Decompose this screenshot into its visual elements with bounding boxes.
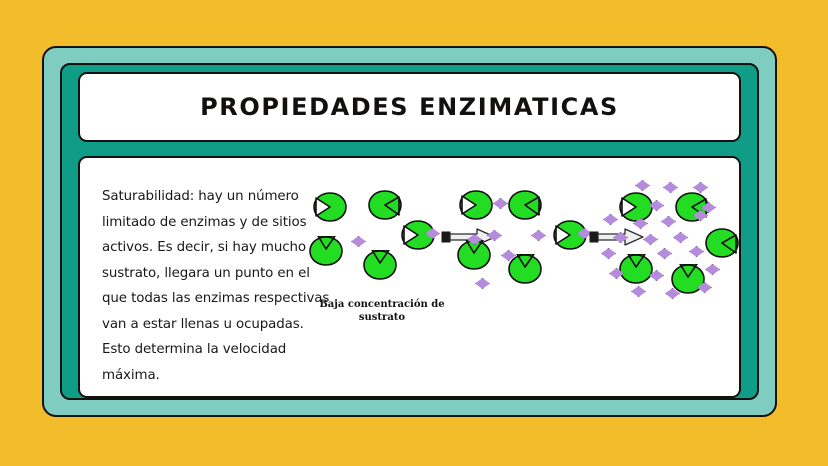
substrate-icon — [657, 248, 672, 259]
substrate-icon — [661, 216, 676, 227]
cluster-low-concentration: Baja concentración de sustrato — [305, 178, 445, 308]
enzyme-icon — [508, 190, 542, 220]
enzyme-icon — [619, 192, 653, 222]
enzyme-icon — [459, 190, 493, 220]
page-title: PROPIEDADES ENZIMATICAS — [200, 93, 619, 121]
substrate-icon — [603, 214, 618, 225]
enzyme-icon — [309, 236, 343, 266]
substrate-icon — [351, 236, 366, 247]
enzyme-icon — [619, 254, 653, 284]
substrate-icon — [613, 232, 628, 243]
caption-low-concentration: Baja concentración de sustrato — [307, 298, 457, 324]
slide-canvas: PROPIEDADES ENZIMATICAS Saturabilidad: h… — [0, 0, 828, 466]
substrate-icon — [493, 198, 508, 209]
substrate-icon — [689, 246, 704, 257]
enzyme-icon — [508, 254, 542, 284]
cluster-high-concentration: Alta concentración de sustrato — [601, 178, 741, 308]
cluster-medium-concentration — [453, 178, 593, 308]
enzyme-icon — [368, 190, 402, 220]
substrate-icon — [643, 234, 658, 245]
body-card: Saturabilidad: hay un número limitado de… — [78, 156, 741, 398]
substrate-icon — [635, 180, 650, 191]
substrate-icon — [631, 286, 646, 297]
enzyme-saturation-diagram: Baja concentración de sustrato — [305, 178, 735, 388]
enzyme-icon — [705, 228, 739, 258]
substrate-icon — [673, 232, 688, 243]
substrate-icon — [705, 264, 720, 275]
substrate-icon — [531, 230, 546, 241]
enzyme-icon — [313, 192, 347, 222]
title-card: PROPIEDADES ENZIMATICAS — [78, 72, 741, 142]
enzyme-icon — [363, 250, 397, 280]
substrate-icon — [601, 248, 616, 259]
substrate-icon — [475, 278, 490, 289]
body-paragraph: Saturabilidad: hay un número limitado de… — [102, 184, 334, 388]
